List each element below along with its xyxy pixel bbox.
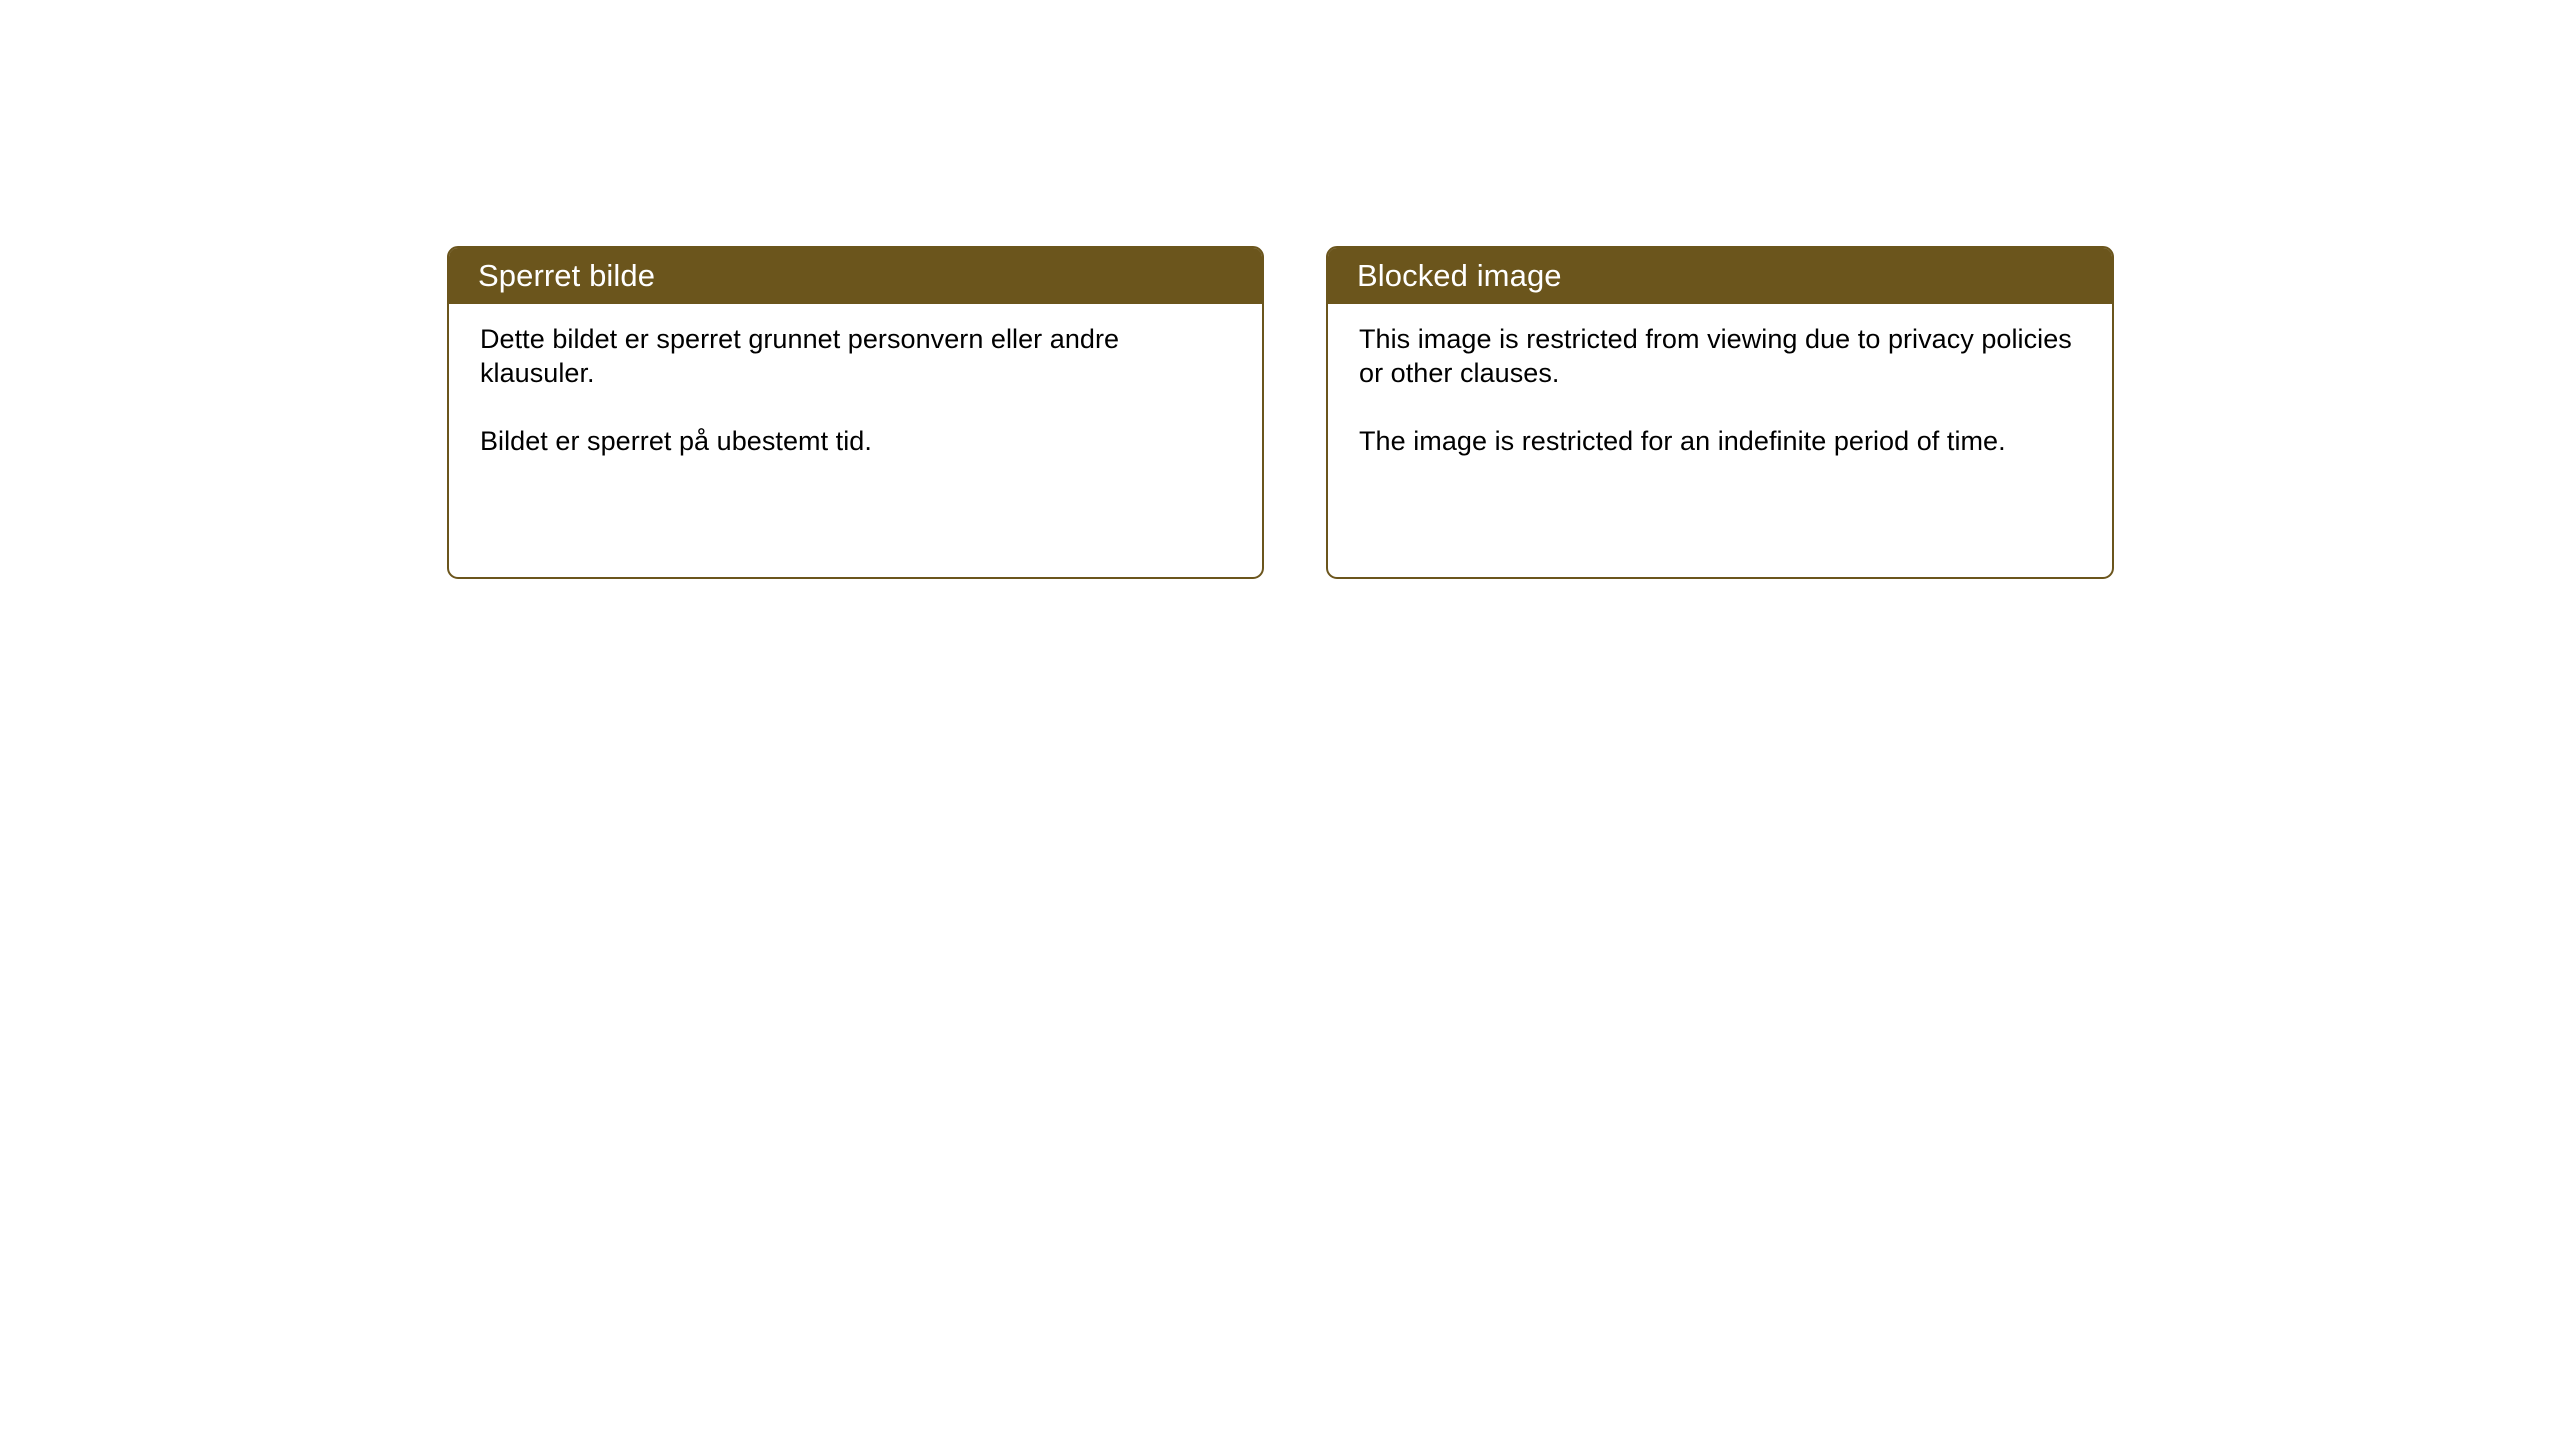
- paragraph-spacer: [480, 390, 1238, 424]
- card-header-norwegian: Sperret bilde: [449, 248, 1262, 304]
- card-title-norwegian: Sperret bilde: [478, 258, 655, 294]
- card-paragraph-english-1: This image is restricted from viewing du…: [1359, 322, 2088, 390]
- blocked-image-notice-deck: Sperret bilde Dette bildet er sperret gr…: [447, 246, 2114, 579]
- card-body-english: This image is restricted from viewing du…: [1328, 304, 2112, 577]
- paragraph-spacer: [1359, 390, 2088, 424]
- card-header-english: Blocked image: [1328, 248, 2112, 304]
- card-paragraph-english-2: The image is restricted for an indefinit…: [1359, 424, 2088, 458]
- card-body-norwegian: Dette bildet er sperret grunnet personve…: [449, 304, 1262, 577]
- card-title-english: Blocked image: [1357, 258, 1562, 294]
- blocked-image-card-english: Blocked image This image is restricted f…: [1326, 246, 2114, 579]
- blocked-image-card-norwegian: Sperret bilde Dette bildet er sperret gr…: [447, 246, 1264, 579]
- card-paragraph-norwegian-1: Dette bildet er sperret grunnet personve…: [480, 322, 1238, 390]
- card-body-filler: [480, 458, 1238, 555]
- card-body-filler: [1359, 458, 2088, 555]
- card-paragraph-norwegian-2: Bildet er sperret på ubestemt tid.: [480, 424, 1238, 458]
